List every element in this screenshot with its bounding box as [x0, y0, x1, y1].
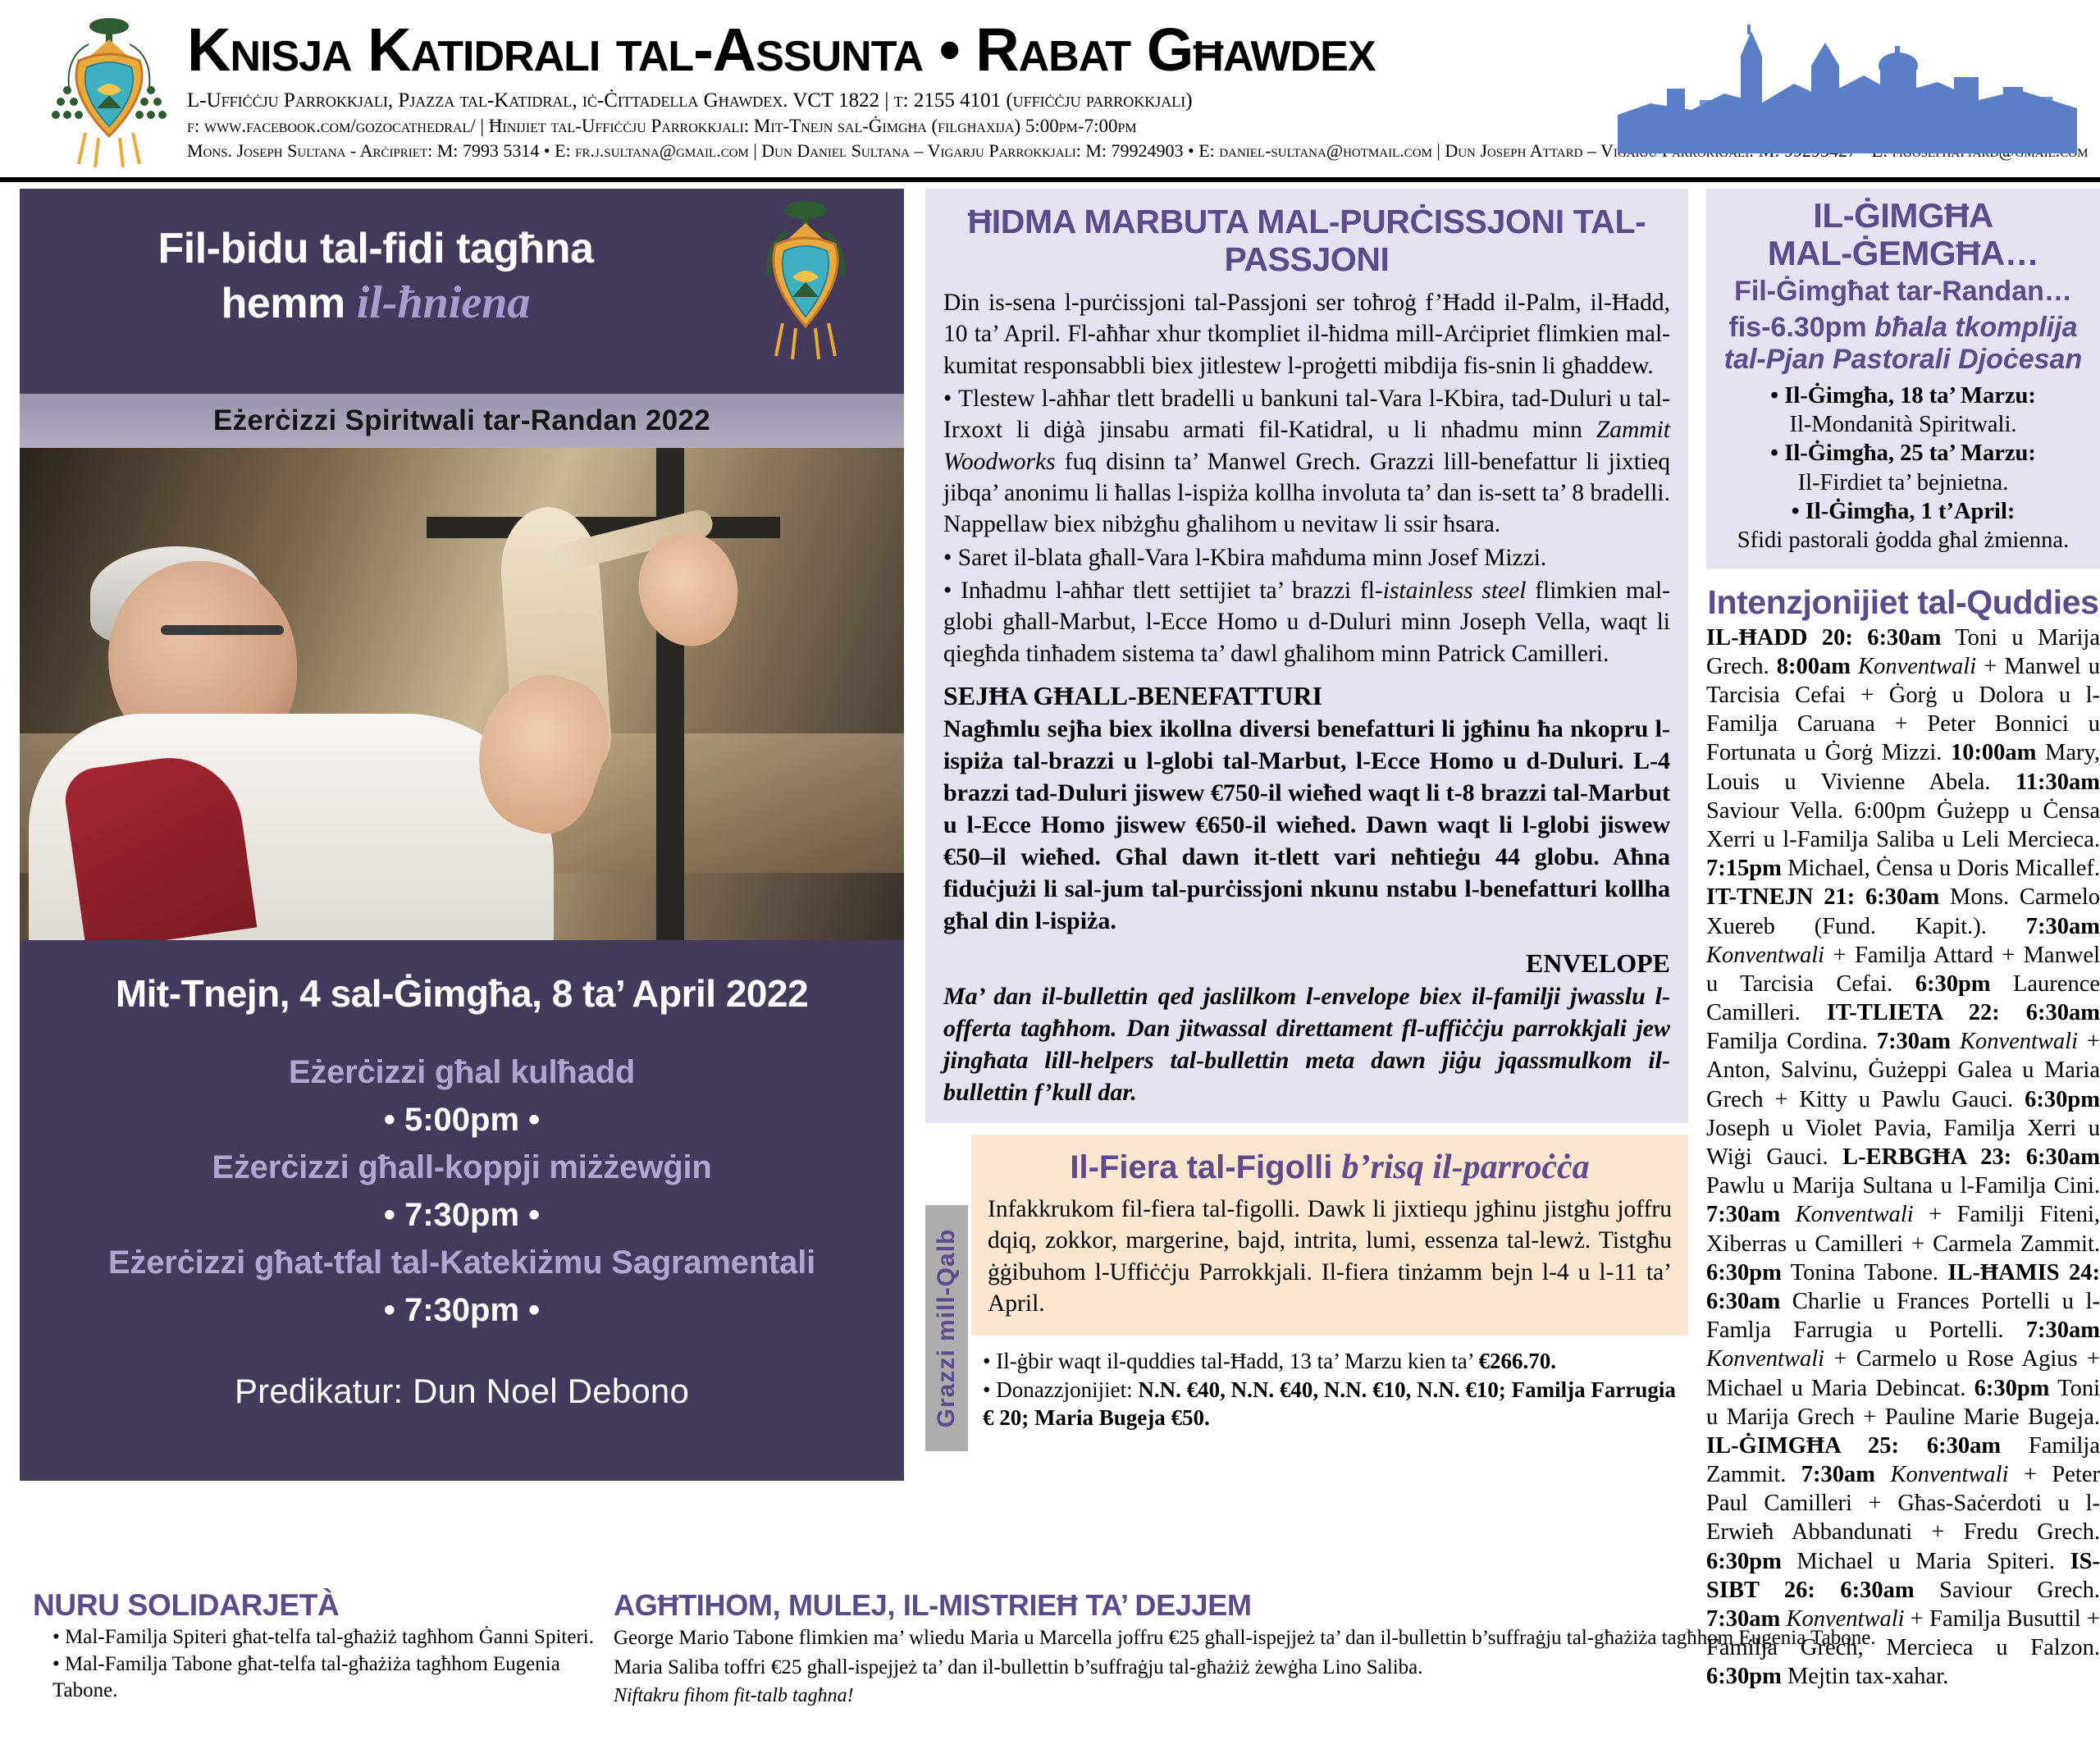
- poster-band-label: Eżerċizzi Spiritwali tar-Randan 2022: [20, 394, 904, 448]
- processione-bullet-1: • Tlestew l-aħħar tlett bradelli u banku…: [943, 383, 1670, 541]
- friday-subheading-1: Fil-Ġimgħat tar-Randan…: [1718, 276, 2089, 308]
- figolli-section: Grazzi mill-Qalb Il-Fiera tal-Figolli b’…: [925, 1135, 1688, 1451]
- page-footer: NURU SOLIDARJETÀ • Mal-Familja Spiteri g…: [0, 1585, 2100, 1749]
- bullet3-part-a: • Inħadmu l-aħħar tlett settijiet ta’ br…: [943, 578, 1383, 604]
- retreat-poster: Fil-bidu tal-fidi tagħna hemm il-ħniena: [20, 189, 904, 1481]
- processione-heading: ĦIDMA MARBUTA MAL-PURĊISSJONI TAL-PASSJO…: [943, 203, 1670, 279]
- schedule-label-1: Eżerċizzi għall-koppji miżżewġin: [20, 1144, 904, 1191]
- mass-intention-konventwali: Konventwali: [1780, 1202, 1913, 1227]
- mass-intention-time: 11:30am: [2016, 769, 2100, 795]
- poster-header: Fil-bidu tal-fidi tagħna hemm il-ħniena: [20, 189, 904, 394]
- donation-collection-line: • Il-ġbir waqt il-quddies tal-Ħadd, 13 t…: [983, 1347, 1688, 1376]
- friday-heading-line2: MAL-ĠEMGĦA…: [1718, 235, 2089, 272]
- friday-item-1-date: • Il-Ġimgħa, 25 ta’ Marzu:: [1718, 439, 2089, 468]
- mass-intention-konventwali: Konventwali: [1875, 1462, 2009, 1487]
- mass-intention-time: 10:00am: [1951, 740, 2036, 765]
- mass-intention-time: 7:30am: [1877, 1029, 1951, 1054]
- mass-intention-time: 7:30am: [2026, 914, 2100, 939]
- cittadella-skyline-icon: [1618, 18, 2077, 153]
- solidarity-item-0: • Mal-Familja Spiteri għat-telfa tal-għa…: [52, 1624, 599, 1651]
- mass-intention-time: 7:30am: [2026, 1317, 2100, 1343]
- mass-intention-time: 6:30am: [1706, 1289, 1780, 1314]
- figolli-heading: Il-Fiera tal-Figolli b’risq il-parroċċa: [988, 1148, 1672, 1187]
- benefactors-body: Nagħmlu sejħa biex ikollna diversi benef…: [943, 713, 1670, 937]
- grazzi-mill-qalb-label: Grazzi mill-Qalb: [933, 1229, 961, 1428]
- mass-intention-day-label: IT-TNEJN 21:: [1706, 884, 1865, 910]
- friday-item-2-topic: Sfidi pastorali ġodda għal żmienna.: [1718, 526, 2089, 555]
- mass-intention-time: 8:00am: [1777, 654, 1851, 679]
- solidarity-list: • Mal-Familja Spiteri għat-telfa tal-għa…: [33, 1624, 599, 1705]
- donation-donors-plain: • Donazzjonijiet:: [983, 1377, 1138, 1402]
- mass-intention-konventwali: Konventwali: [1706, 1346, 1824, 1372]
- figolli-panel: Il-Fiera tal-Figolli b’risq il-parroċċa …: [971, 1135, 1688, 1336]
- schedule-label-2: Eżerċizzi għat-tfal tal-Katekiżmu Sagram…: [20, 1239, 904, 1286]
- mass-intention-day-label: IL-ĦADD 20:: [1706, 625, 1867, 651]
- page-body: Fil-bidu tal-fidi tagħna hemm il-ħniena: [0, 182, 2100, 1585]
- mass-intention-time: 6:30pm: [1974, 1376, 2050, 1401]
- poster-footer: Mit-Tnejn, 4 sal-Ġimgħa, 8 ta’ April 202…: [20, 940, 904, 1411]
- suffrage-para-3: Niftakru fihom fit-talb tagħna!: [614, 1683, 2080, 1709]
- schedule-time-1: • 7:30pm •: [20, 1191, 904, 1239]
- suffrage-para-2: Maria Saliba toffri €25 għall-ispejjeż t…: [614, 1654, 2080, 1682]
- mass-intention-time: 6:30pm: [2025, 1087, 2100, 1112]
- solidarity-item-1: • Mal-Familja Tabone għat-telfa tal-għaż…: [52, 1651, 599, 1705]
- processione-para-1: Din is-sena l-purċissjoni tal-Passjoni s…: [943, 287, 1670, 381]
- friday-list: • Il-Ġimgħa, 18 ta’ Marzu: Il-Mondanità …: [1718, 381, 2089, 555]
- envelope-heading: ENVELOPE: [943, 948, 1670, 979]
- mass-intention-text: Tonina Tabone.: [1782, 1260, 1938, 1285]
- mass-intention-day-label: IL-ĠIMGĦA 25:: [1706, 1433, 1927, 1459]
- priest-crucifix-photo: [20, 448, 904, 940]
- schedule-time-0: • 5:00pm •: [20, 1096, 904, 1144]
- mass-intentions-body: IL-ĦADD 20: 6:30am Toni u Marija Grech. …: [1706, 623, 2100, 1692]
- bullet3-italic: istainless steel: [1383, 578, 1527, 604]
- friday-item-2-date: • Il-Ġimgħa, 1 t’April:: [1718, 497, 2089, 526]
- processione-article: ĦIDMA MARBUTA MAL-PURĊISSJONI TAL-PASSJO…: [925, 189, 1688, 1123]
- mass-intention-text: Michael u Maria Spiteri.: [1782, 1549, 2055, 1574]
- friday-series-panel: IL-ĠIMGĦA MAL-ĠEMGĦA… Fil-Ġimgħat tar-Ra…: [1706, 189, 2100, 569]
- solidarity-block: NURU SOLIDARJETÀ • Mal-Familja Spiteri g…: [33, 1588, 599, 1749]
- figolli-heading-script: b’risq il-parroċċa: [1341, 1148, 1589, 1186]
- grazzi-mill-qalb-sidebar: Grazzi mill-Qalb: [925, 1205, 968, 1451]
- poster-title-line2-plain: hemm: [221, 280, 357, 327]
- poster-schedule: Eżerċizzi għal kulħadd • 5:00pm • Eżerċi…: [20, 1048, 904, 1334]
- poster-title-line1: Fil-bidu tal-fidi tagħna: [157, 225, 593, 272]
- friday-item-1-topic: Il-Firdiet ta’ bejnietna.: [1718, 468, 2089, 497]
- mass-intention-konventwali: Konventwali: [1951, 1029, 2078, 1054]
- schedule-label-0: Eżerċizzi għal kulħadd: [20, 1048, 904, 1096]
- suffrage-para-1: George Mario Tabone flimkien ma’ wliedu …: [614, 1624, 2080, 1652]
- page-header: Knisja Katidrali tal-Assunta • Rabat Għa…: [0, 0, 2100, 182]
- mass-intention-time: 7:15pm: [1706, 856, 1782, 881]
- column-left: Fil-bidu tal-fidi tagħna hemm il-ħniena: [20, 189, 907, 1585]
- friday-heading-line1: IL-ĠIMGĦA: [1718, 197, 2089, 235]
- solidarity-heading: NURU SOLIDARJETÀ: [33, 1588, 599, 1623]
- envelope-body: Ma’ dan il-bullettin qed jaslilkom l-env…: [943, 980, 1670, 1108]
- suffrage-block: AGĦTIHOM, MULEJ, IL-MISTRIEĦ TA’ DEJJEM …: [599, 1588, 2080, 1749]
- mass-intention-time: 6:30am: [1865, 884, 1939, 910]
- mass-intention-time: 6:30pm: [1915, 971, 1991, 997]
- friday-item-0-topic: Il-Mondanità Spiritwali.: [1718, 410, 2089, 439]
- schedule-time-2: • 7:30pm •: [20, 1286, 904, 1334]
- friday-time: fis-6.30pm: [1728, 312, 1874, 343]
- mass-intention-time: 6:30pm: [1706, 1549, 1782, 1574]
- mass-intention-day-label: IL-ĦAMIS 24:: [1947, 1260, 2100, 1285]
- mass-intention-time: 7:30am: [1706, 1202, 1780, 1227]
- mass-intention-text: Pawlu u Marija Sultana u l-Familja Cini.: [1706, 1173, 2100, 1199]
- mass-intention-konventwali: Konventwali: [1851, 654, 1976, 679]
- figolli-text: Infakkrukom fil-fiera tal-figolli. Dawk …: [988, 1194, 1672, 1319]
- bullet1-part-a: • Tlestew l-aħħar tlett bradelli u banku…: [943, 386, 1670, 443]
- coat-of-arms-crest-icon: [39, 11, 179, 176]
- mass-intention-time: 6:30pm: [1706, 1260, 1782, 1285]
- column-middle: ĦIDMA MARBUTA MAL-PURĊISSJONI TAL-PASSJO…: [925, 189, 1688, 1585]
- donation-donors-line: • Donazzjonijiet: N.N. €40, N.N. €40, N.…: [983, 1376, 1688, 1432]
- mass-intention-text: Familja Cordina.: [1706, 1029, 1877, 1054]
- donations-list: • Il-ġbir waqt il-quddies tal-Ħadd, 13 t…: [971, 1336, 1688, 1432]
- mass-intention-text: Michael, Ċensa u Doris Micallef.: [1782, 856, 2100, 881]
- friday-subheading-2: fis-6.30pm bħala tkomplija tal-Pjan Past…: [1718, 312, 2089, 377]
- friday-item-0-date: • Il-Ġimgħa, 18 ta’ Marzu:: [1718, 381, 2089, 410]
- mass-intention-day: IL-ĠIMGĦA 25: 6:30am Familja Zammit. 7:3…: [1706, 1433, 2100, 1574]
- column-right: IL-ĠIMGĦA MAL-ĠEMGĦA… Fil-Ġimgħat tar-Ra…: [1706, 189, 2100, 1585]
- mass-intention-time: 6:30am: [2026, 1000, 2100, 1025]
- benefactors-heading: SEJĦA GĦALL-BENEFATTURI: [943, 681, 1670, 711]
- poster-preacher: Predikatur: Dun Noel Debono: [20, 1372, 904, 1411]
- figolli-body: Il-Fiera tal-Figolli b’risq il-parroċċa …: [971, 1135, 1688, 1451]
- mass-intention-day-label: IT-TLIETA 22:: [1827, 1000, 2026, 1025]
- poster-dates: Mit-Tnejn, 4 sal-Ġimgħa, 8 ta’ April 202…: [20, 971, 904, 1016]
- mass-intentions-heading: Intenzjonijiet tal-Quddies: [1706, 583, 2100, 622]
- poster-coat-of-arms-icon: [740, 197, 871, 365]
- mass-intention-time: 6:30am: [1867, 625, 1941, 651]
- mass-intention-time: 6:30am: [1927, 1433, 2001, 1459]
- figolli-heading-plain: Il-Fiera tal-Figolli: [1070, 1149, 1341, 1185]
- mass-intention-time: 7:30am: [1801, 1462, 1875, 1487]
- processione-bullet-2: • Saret il-blata għall-Vara l-Kbira maħd…: [943, 542, 1670, 573]
- processione-bullet-3: • Inħadmu l-aħħar tlett settijiet ta’ br…: [943, 575, 1670, 669]
- poster-title-line2-script: il-ħniena: [357, 277, 531, 328]
- mass-intention-time: 6:30am: [2026, 1144, 2100, 1170]
- donation-collection-plain: • Il-ġbir waqt il-quddies tal-Ħadd, 13 t…: [983, 1349, 1479, 1373]
- donation-collection-amount: €266.70.: [1479, 1349, 1557, 1373]
- mass-intention-day-label: L-ERBGĦA 23:: [1842, 1144, 2026, 1170]
- suffrage-heading: AGĦTIHOM, MULEJ, IL-MISTRIEĦ TA’ DEJJEM: [614, 1588, 2080, 1623]
- mass-intention-text: Saviour Vella. 6:00pm Ġużepp u Ċensa Xer…: [1706, 798, 2100, 852]
- mass-intention-konventwali: Konventwali: [1706, 943, 1824, 968]
- mass-intention-day: IL-ĦADD 20: 6:30am Toni u Marija Grech. …: [1706, 625, 2100, 882]
